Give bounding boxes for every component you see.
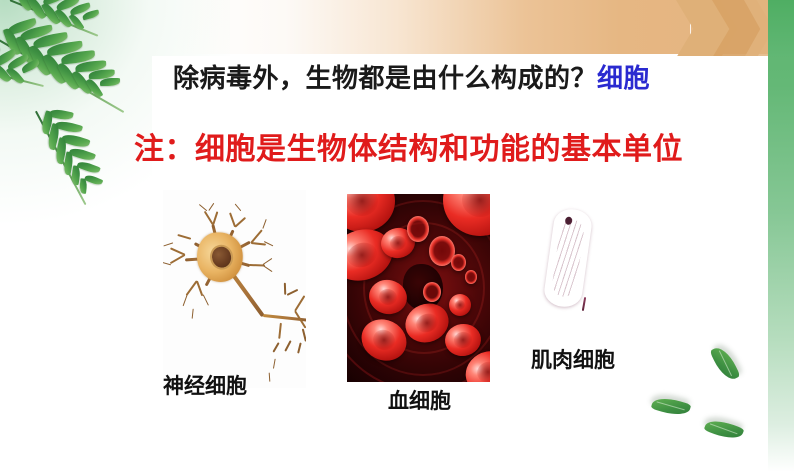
- muscle-striations: [550, 217, 585, 298]
- figure-caption-neuron: 神经细胞: [163, 370, 247, 400]
- neuron-cell-illustration: [163, 190, 306, 388]
- muscle-cell-body: [542, 207, 593, 309]
- right-green-strip: [768, 0, 794, 472]
- right-green-strip-top: [768, 0, 794, 56]
- note-line: 注：细胞是生物体结构和功能的基本单位: [134, 124, 683, 168]
- neuron-nucleus: [208, 243, 236, 272]
- figure-caption-muscle: 肌肉细胞: [531, 344, 615, 374]
- figure-caption-blood: 血细胞: [388, 385, 451, 415]
- question-line: 除病毒外，生物都是由什么构成的？细胞: [173, 58, 650, 95]
- red-blood-cells-illustration: [347, 194, 490, 382]
- top-decor-band: [0, 0, 794, 54]
- muscle-cell-illustration: [533, 205, 619, 313]
- question-answer: 细胞: [597, 64, 650, 93]
- muscle-cell-tail: [582, 297, 586, 311]
- neuron-soma: [192, 228, 247, 286]
- slide-canvas: 除病毒外，生物都是由什么构成的？细胞 注：细胞是生物体结构和功能的基本单位: [0, 0, 794, 472]
- question-prompt: 除病毒外，生物都是由什么构成的？: [173, 64, 597, 93]
